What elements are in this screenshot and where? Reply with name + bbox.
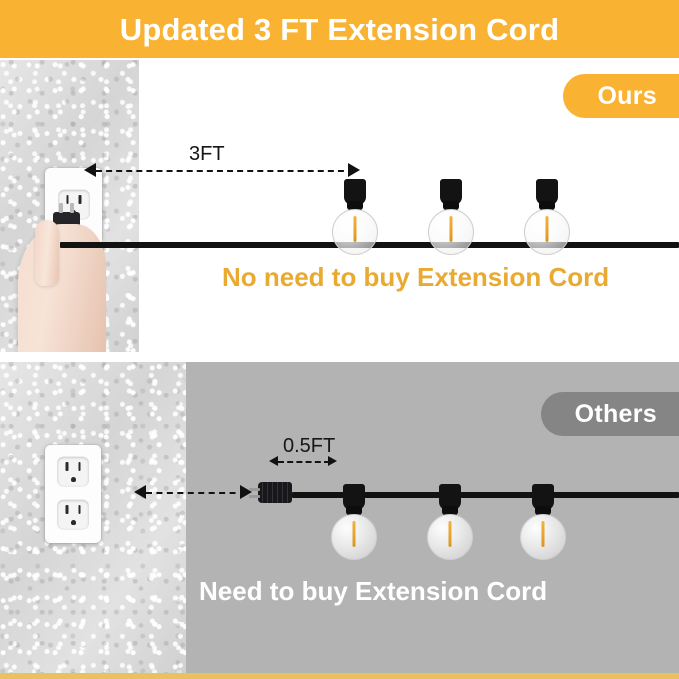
bulb-socket — [343, 484, 365, 510]
bulb-socket — [440, 179, 462, 205]
outlet-slot-left — [66, 505, 69, 514]
hand-thumb — [35, 220, 59, 286]
infographic-root: Updated 3 FT Extension Cord 3FT — [0, 0, 679, 679]
measure-label-3ft: 3FT — [189, 144, 225, 164]
plug-prong-right — [70, 203, 74, 213]
gap-arrow-left-bottom — [134, 485, 146, 499]
bulb-globe — [428, 209, 474, 255]
bulb-globe — [524, 209, 570, 255]
badge-ours: Ours — [563, 74, 679, 118]
header-banner: Updated 3 FT Extension Cord — [0, 0, 679, 58]
outlet-slot-right — [78, 505, 81, 514]
bulb-socket — [532, 484, 554, 510]
outlet-slot-left — [66, 195, 69, 204]
outlet-socket-upper — [58, 457, 89, 486]
bulb-globe — [427, 514, 473, 560]
plug-prong-left — [249, 488, 260, 491]
bulb-filament — [449, 521, 452, 547]
panel-ours: 3FT Ours — [0, 60, 679, 352]
caption-ours: No need to buy Extension Cord — [222, 264, 609, 290]
badge-others: Others — [541, 392, 679, 436]
outlet-slot-right — [78, 462, 81, 471]
bulb-socket — [536, 179, 558, 205]
measure-arrow-left-top — [84, 163, 96, 177]
power-plug-bottom — [258, 482, 292, 503]
bulb-filament — [542, 521, 545, 547]
outlet-slot-right — [79, 195, 82, 204]
bulb-socket — [439, 484, 461, 510]
wall-outlet-bottom — [45, 445, 101, 543]
measure-arrow-right-top — [348, 163, 360, 177]
bulb-globe — [331, 514, 377, 560]
bulb-filament — [450, 216, 453, 242]
plug-prong-right — [249, 495, 260, 498]
gap-dashline-bottom — [146, 492, 246, 494]
page-title: Updated 3 FT Extension Cord — [120, 14, 559, 45]
outlet-ground-pin — [71, 520, 76, 525]
panel-divider — [0, 352, 679, 362]
measure-dashline-bottom — [278, 461, 330, 463]
measure-label-half-ft: 0.5FT — [283, 436, 335, 456]
bulb-filament — [546, 216, 549, 242]
bulb-globe — [332, 209, 378, 255]
measure-arrow-left-bottom — [269, 456, 278, 466]
bulb-socket — [344, 179, 366, 205]
footer-accent-line — [0, 673, 679, 679]
outlet-slot-left — [66, 462, 69, 471]
measure-arrow-right-bottom — [328, 456, 337, 466]
panel-others: 0.5FT Others — [0, 362, 679, 673]
bulb-globe — [520, 514, 566, 560]
outlet-ground-pin — [71, 477, 76, 482]
bulb-filament — [354, 216, 357, 242]
measure-dashline-top — [96, 170, 354, 172]
caption-others: Need to buy Extension Cord — [199, 578, 547, 604]
plug-prong-left — [59, 203, 63, 213]
outlet-socket-lower — [58, 500, 89, 529]
bulb-filament — [353, 521, 356, 547]
